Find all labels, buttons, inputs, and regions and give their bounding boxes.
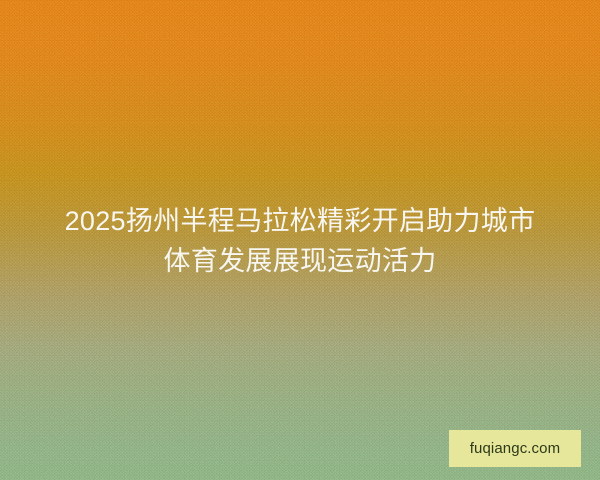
- watermark-badge: fuqiangc.com: [449, 430, 581, 467]
- banner-image: 2025扬州半程马拉松精彩开启助力城市 体育发展展现运动活力 fuqiangc.…: [0, 0, 600, 480]
- watermark-site-label: fuqiangc.com: [470, 441, 560, 456]
- headline-line-1: 2025扬州半程马拉松精彩开启助力城市: [30, 201, 570, 241]
- headline-line-2: 体育发展展现运动活力: [30, 241, 570, 281]
- headline-title: 2025扬州半程马拉松精彩开启助力城市 体育发展展现运动活力: [0, 201, 600, 281]
